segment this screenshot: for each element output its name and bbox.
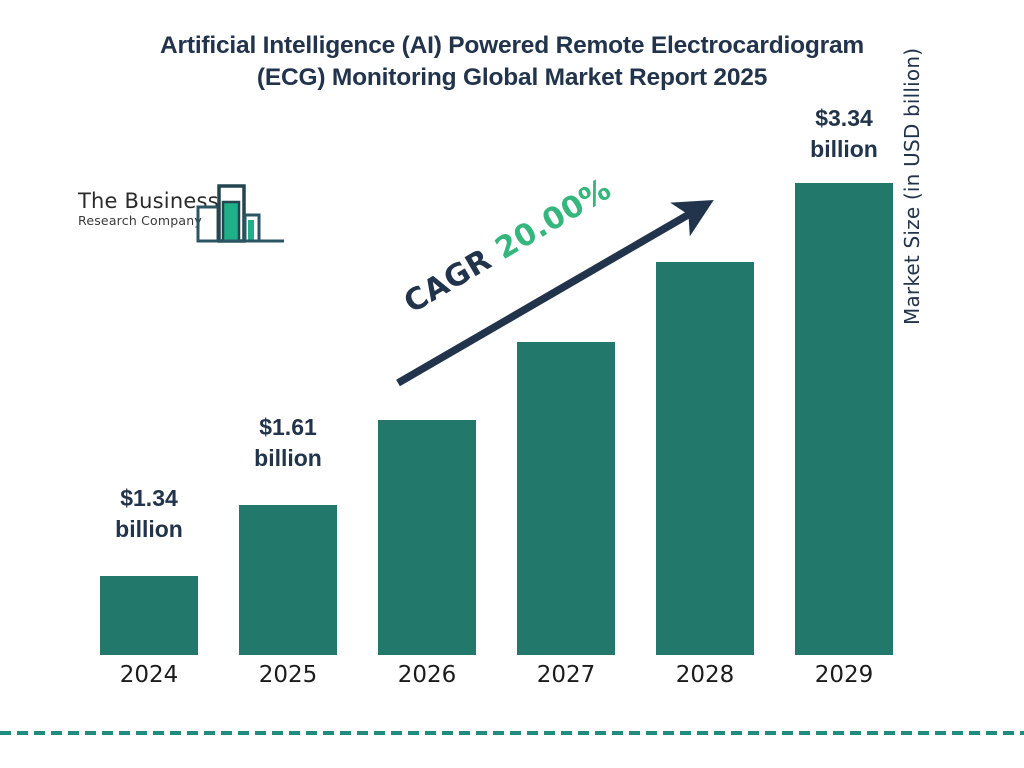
x-tick-2024: 2024 <box>79 662 219 688</box>
x-tick-2029: 2029 <box>774 662 914 688</box>
bar-label-2024-unit: billion <box>79 514 219 545</box>
footer-divider <box>0 731 1024 735</box>
bar-label-2025-unit: billion <box>218 443 358 474</box>
bar-label-2024: $1.34 billion <box>79 483 219 545</box>
x-tick-2028: 2028 <box>635 662 775 688</box>
bar-label-2029: $3.34 billion <box>774 103 914 165</box>
bar-2024 <box>100 576 198 655</box>
bar-2025 <box>239 505 337 655</box>
bar-label-2024-amount: $1.34 <box>79 483 219 514</box>
bar-2026 <box>378 420 476 655</box>
bar-label-2029-unit: billion <box>774 134 914 165</box>
bar-2029 <box>795 183 893 655</box>
x-tick-2025: 2025 <box>218 662 358 688</box>
bar-label-2029-amount: $3.34 <box>774 103 914 134</box>
bar-label-2025-amount: $1.61 <box>218 412 358 443</box>
y-axis-title: Market Size (in USD billion) <box>900 0 924 325</box>
x-tick-2026: 2026 <box>357 662 497 688</box>
bar-label-2025: $1.61 billion <box>218 412 358 474</box>
chart-figure: Artificial Intelligence (AI) Powered Rem… <box>0 0 1024 768</box>
x-tick-2027: 2027 <box>496 662 636 688</box>
